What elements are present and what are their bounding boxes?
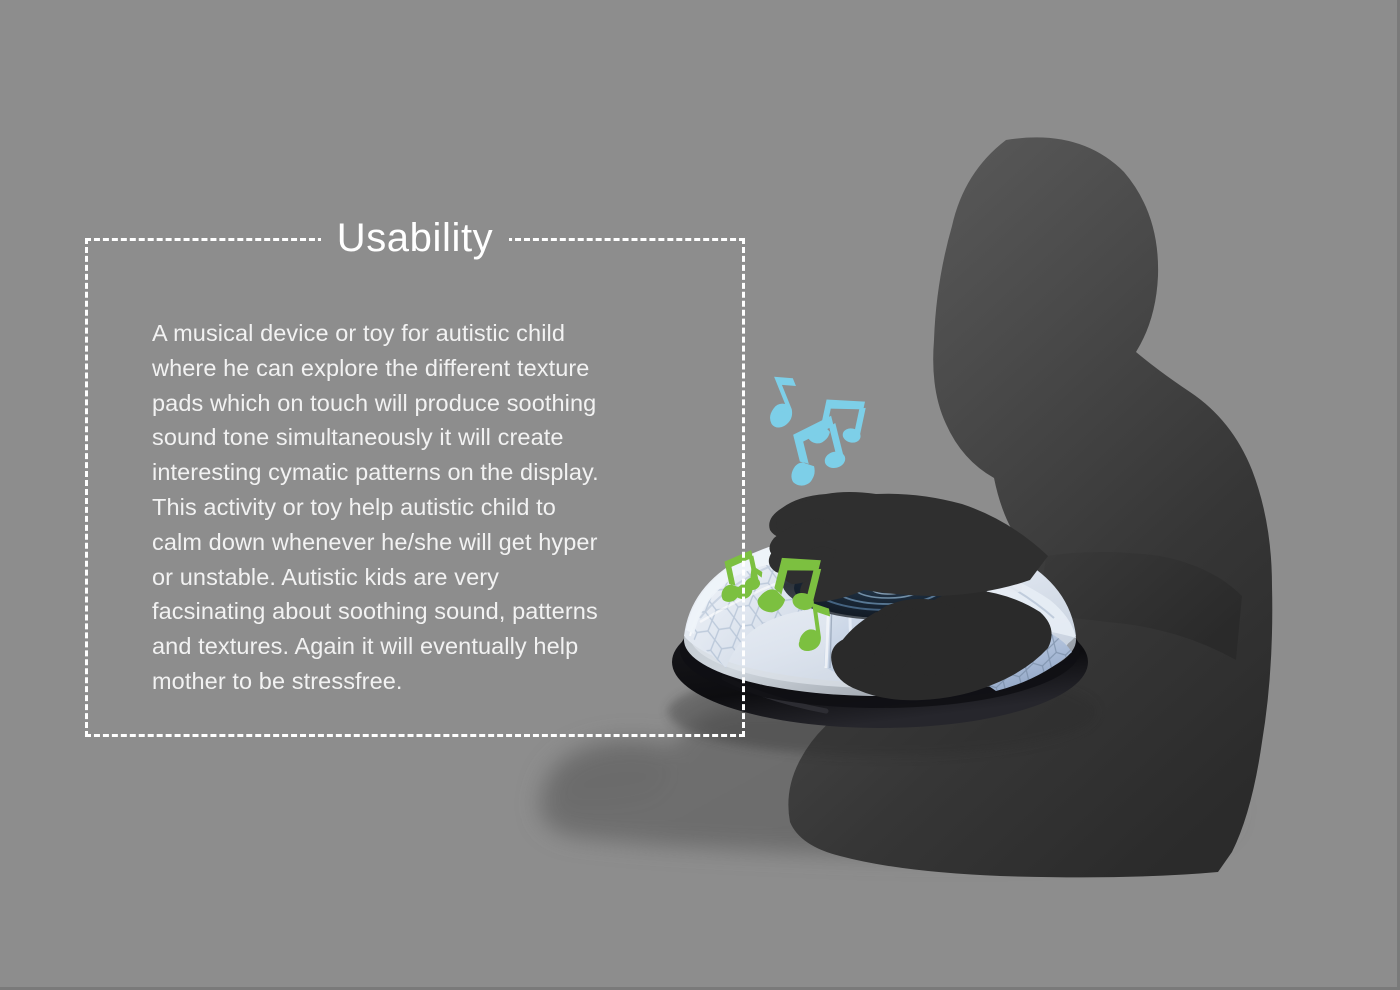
poster-canvas: Usability A musical device or toy for au… [0, 0, 1400, 990]
usability-description: A musical device or toy for autistic chi… [152, 316, 682, 699]
